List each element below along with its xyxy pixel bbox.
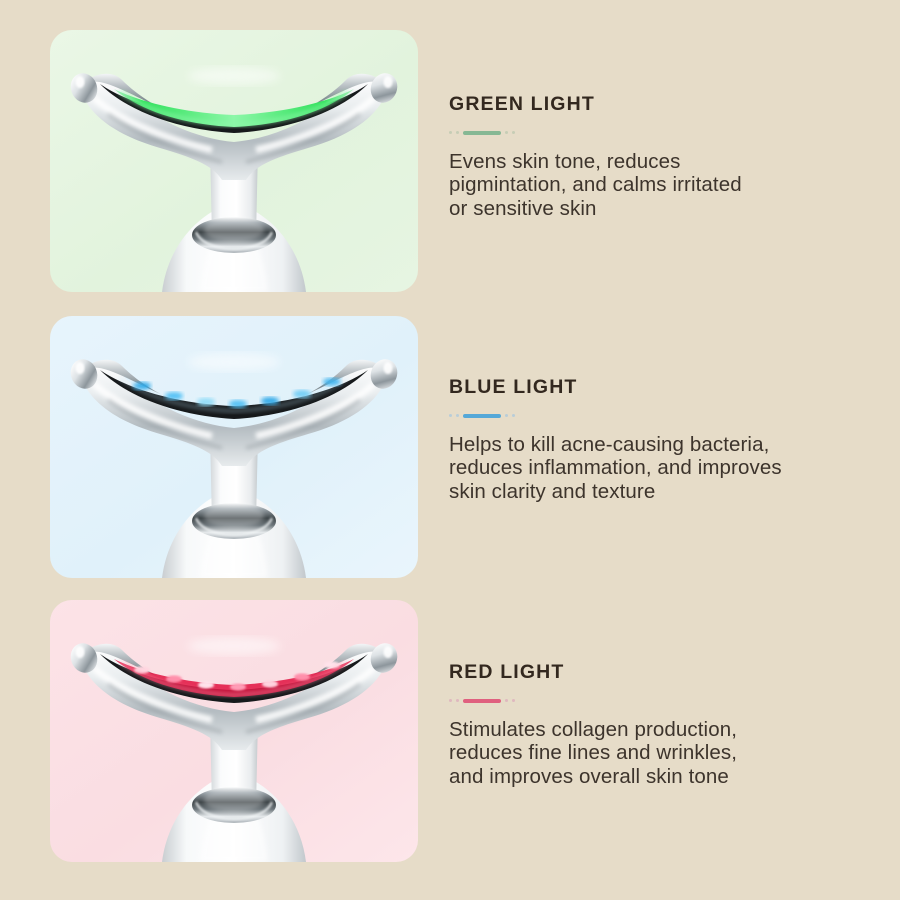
divider-dot-icon (512, 699, 515, 702)
section-description-green-light: Evens skin tone, reduces pigmintation, a… (449, 150, 869, 222)
section-divider-green-light (449, 130, 869, 136)
product-card-blue-light (50, 316, 418, 578)
section-kicker-blue-light: BLUE LIGHT (449, 378, 869, 398)
divider-dot-icon (456, 414, 459, 417)
divider-dot-icon (456, 131, 459, 134)
section-divider-blue-light (449, 413, 869, 419)
divider-dot-icon (449, 414, 452, 417)
product-card-red-light (50, 600, 418, 862)
section-info-blue-light: BLUE LIGHT Helps to kill acne-causing ba… (449, 378, 869, 504)
section-description-blue-light: Helps to kill acne-causing bacteria, red… (449, 433, 869, 505)
divider-dot-icon (505, 131, 508, 134)
divider-dot-icon (505, 699, 508, 702)
infographic-page: GREEN LIGHT Evens skin tone, reduces pig… (0, 0, 900, 900)
section-kicker-red-light: RED LIGHT (449, 663, 869, 683)
divider-dot-icon (449, 131, 452, 134)
section-info-red-light: RED LIGHT Stimulates collagen production… (449, 663, 869, 789)
section-description-red-light: Stimulates collagen production, reduces … (449, 718, 869, 790)
section-kicker-green-light: GREEN LIGHT (449, 95, 869, 115)
divider-bar (463, 699, 501, 703)
divider-dot-icon (456, 699, 459, 702)
product-card-green-light (50, 30, 418, 292)
device-image-green-light (50, 30, 418, 292)
section-info-green-light: GREEN LIGHT Evens skin tone, reduces pig… (449, 95, 869, 221)
divider-dot-icon (449, 699, 452, 702)
divider-dot-icon (512, 131, 515, 134)
divider-dot-icon (512, 414, 515, 417)
device-image-blue-light (50, 316, 418, 578)
divider-bar (463, 131, 501, 135)
section-divider-red-light (449, 698, 869, 704)
divider-dot-icon (505, 414, 508, 417)
divider-bar (463, 414, 501, 418)
device-image-red-light (50, 600, 418, 862)
